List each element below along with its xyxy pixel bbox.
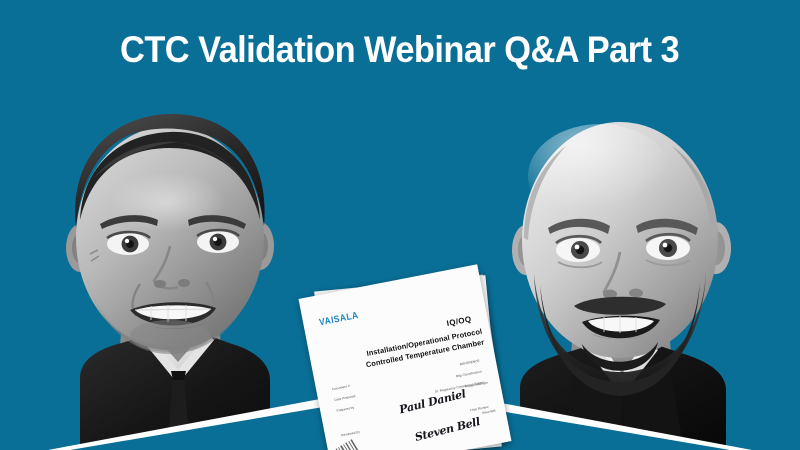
webinar-title-card: VAISALA IQ/OQ Installation/Operational P…: [0, 0, 800, 450]
document-type-label: IQ/OQ: [446, 314, 472, 328]
document-sheet-front: VAISALA IQ/OQ Installation/Operational P…: [298, 264, 511, 450]
field-label: Document #: [332, 384, 350, 391]
vaisala-logo: VAISALA: [318, 310, 359, 328]
speaker-left-portrait: [18, 78, 338, 450]
title-bar: CTC Validation Webinar Q&A Part 3: [0, 28, 800, 72]
field-label: Date Prepared: [334, 394, 356, 402]
field-label: Prepared by: [336, 405, 354, 412]
barcode-icon: [334, 436, 364, 450]
page-title: CTC Validation Webinar Q&A Part 3: [120, 28, 679, 72]
field-value: REFERENCE: [460, 359, 480, 367]
validation-protocol-document: VAISALA IQ/OQ Installation/Operational P…: [300, 272, 520, 450]
field-value: Mfg Classification: [456, 369, 482, 378]
